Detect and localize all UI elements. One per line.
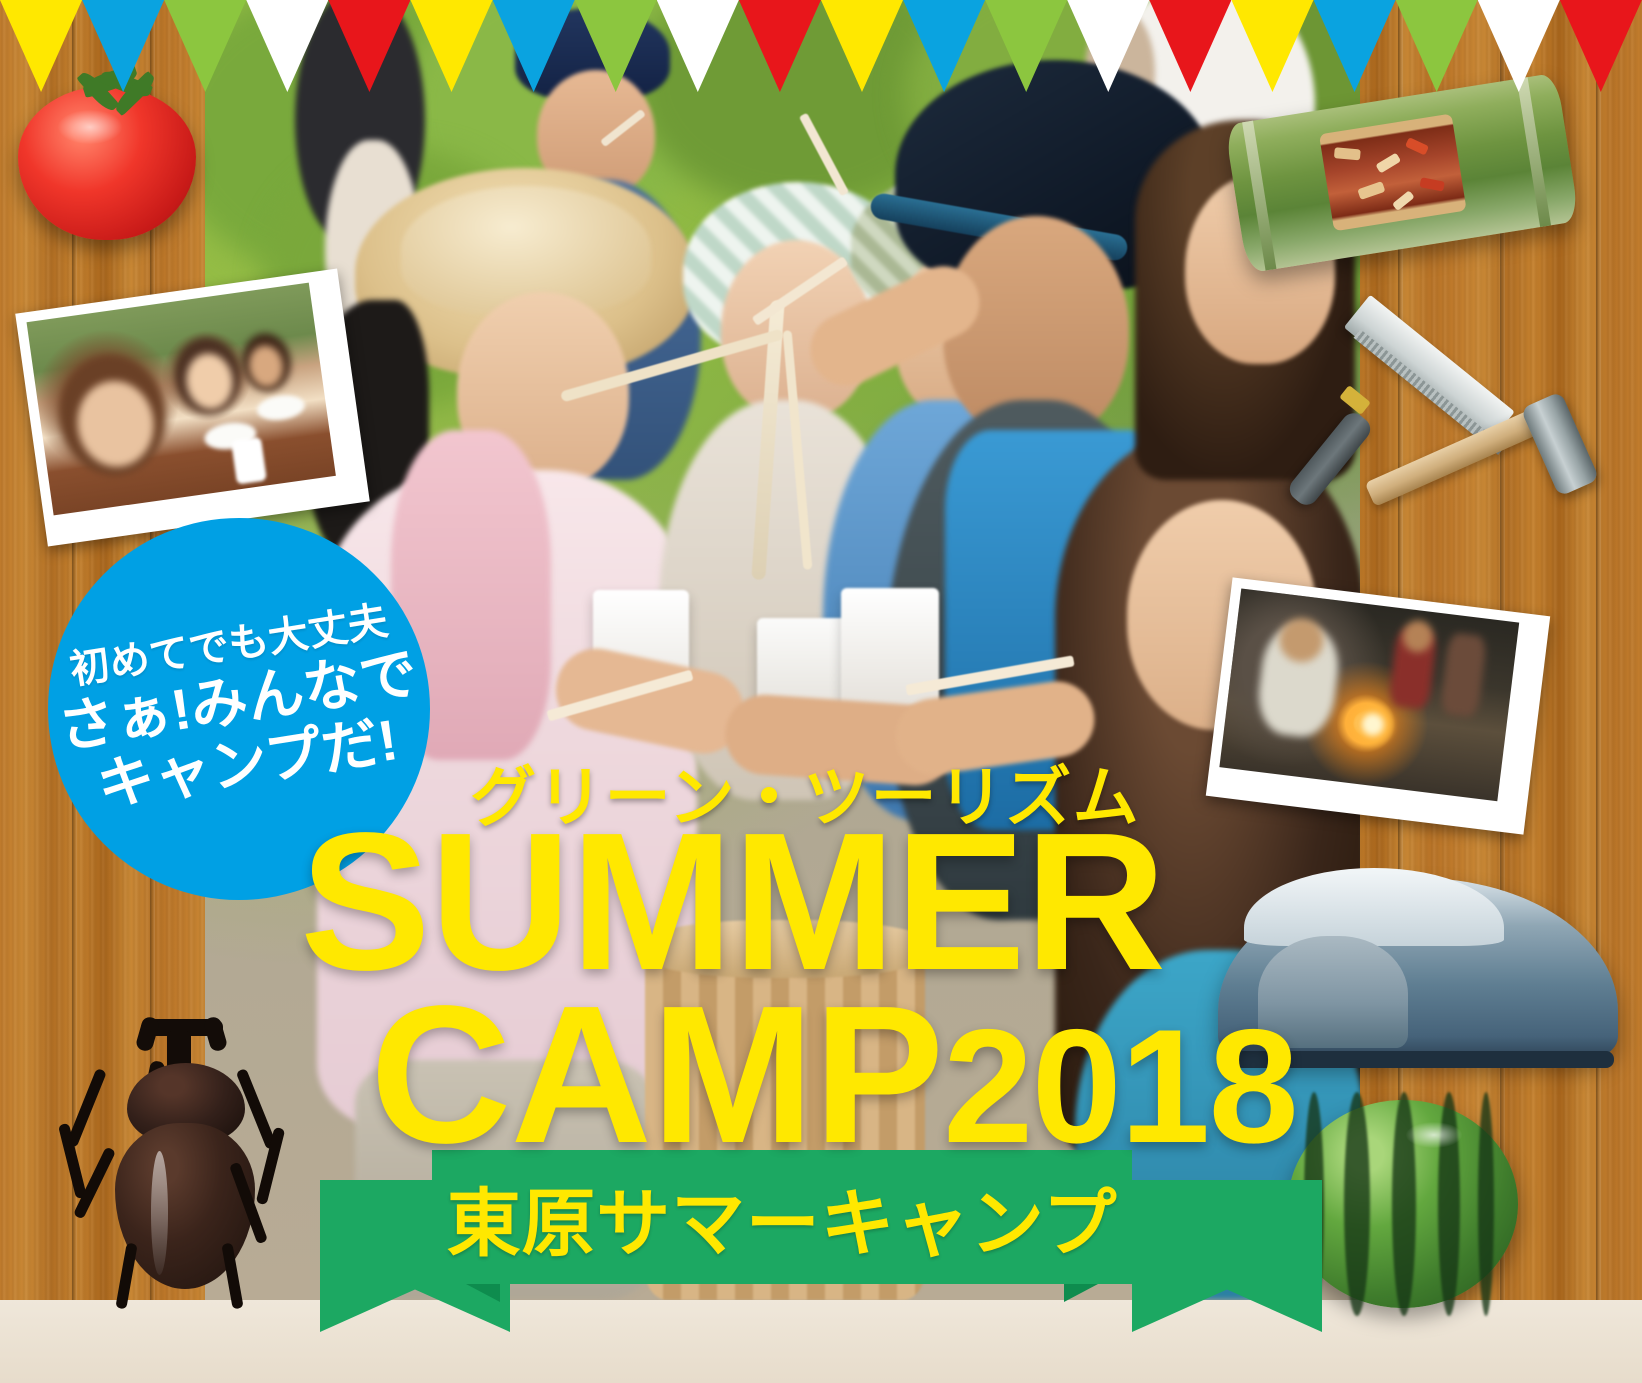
bunting-flag-blue: [493, 0, 575, 92]
green-ribbon-banner: 東原サマーキャンプ: [0, 1150, 1642, 1350]
bunting-flag-red: [1560, 0, 1642, 92]
bunting-flag-red: [739, 0, 821, 92]
saw-ferrule: [1339, 385, 1371, 415]
plank-seam: [1596, 0, 1601, 1300]
paper-cup: [231, 437, 267, 485]
bowl: [255, 392, 306, 422]
bunting-flag-green: [1396, 0, 1478, 92]
badge-text: 初めてでも大丈夫 さぁ!みんなで キャンプだ!: [20, 490, 457, 927]
tent-door: [1258, 936, 1408, 1048]
bunting-flag-yellow: [0, 0, 82, 92]
food-chunk: [1419, 177, 1444, 191]
food-chunk: [1334, 147, 1361, 160]
polaroid-photo-meal-image: [27, 283, 336, 516]
pail-rim: [637, 920, 933, 978]
polaroid-photo-fireworks: [1206, 577, 1550, 834]
bamboo-opening: [1319, 114, 1467, 232]
bunting-flag-green: [164, 0, 246, 92]
tent-rainfly: [1244, 868, 1504, 946]
bunting-flag-blue: [82, 0, 164, 92]
beetle-horn-tip-right: [203, 1015, 229, 1052]
paper-cup: [841, 588, 939, 718]
tomato-cutout: [18, 72, 196, 240]
watermelon-highlight: [1406, 1122, 1462, 1148]
sparkler-flame: [1347, 699, 1398, 750]
bunting-flag-blue: [1314, 0, 1396, 92]
bunting-flag-white: [1067, 0, 1149, 92]
bunting-flag-white: [246, 0, 328, 92]
mallet-head: [1520, 391, 1599, 497]
food-chunk: [1392, 190, 1415, 211]
tomato-highlight: [58, 110, 122, 144]
bunting-flag-blue: [903, 0, 985, 92]
tent-cutout: [1218, 862, 1618, 1072]
food-chunk: [1405, 137, 1429, 155]
triangle-bunting: [0, 0, 1642, 92]
child-figure: [1440, 632, 1488, 718]
food-chunk: [1375, 153, 1401, 174]
bunting-flag-green: [985, 0, 1067, 92]
food-chunk: [1357, 181, 1385, 200]
bunting-flag-red: [328, 0, 410, 92]
bunting-flag-white: [1478, 0, 1560, 92]
poster-root: 初めてでも大丈夫 さぁ!みんなで キャンプだ! グリーン・ツーリズム SUMME…: [0, 0, 1642, 1383]
mallet-cutout: [1370, 390, 1620, 560]
tent-base: [1222, 1051, 1614, 1068]
bunting-flag-red: [1149, 0, 1231, 92]
ribbon-tail-right: [1132, 1180, 1322, 1332]
bunting-flag-white: [657, 0, 739, 92]
bunting-flag-yellow: [1231, 0, 1313, 92]
bunting-flag-yellow: [410, 0, 492, 92]
ribbon-label: 東原サマーキャンプ: [432, 1150, 1132, 1284]
badge-circle: 初めてでも大丈夫 さぁ!みんなで キャンプだ!: [48, 518, 430, 900]
bunting-flag-green: [575, 0, 657, 92]
polaroid-photo-fireworks-image: [1219, 588, 1519, 801]
bunting-flag-yellow: [821, 0, 903, 92]
